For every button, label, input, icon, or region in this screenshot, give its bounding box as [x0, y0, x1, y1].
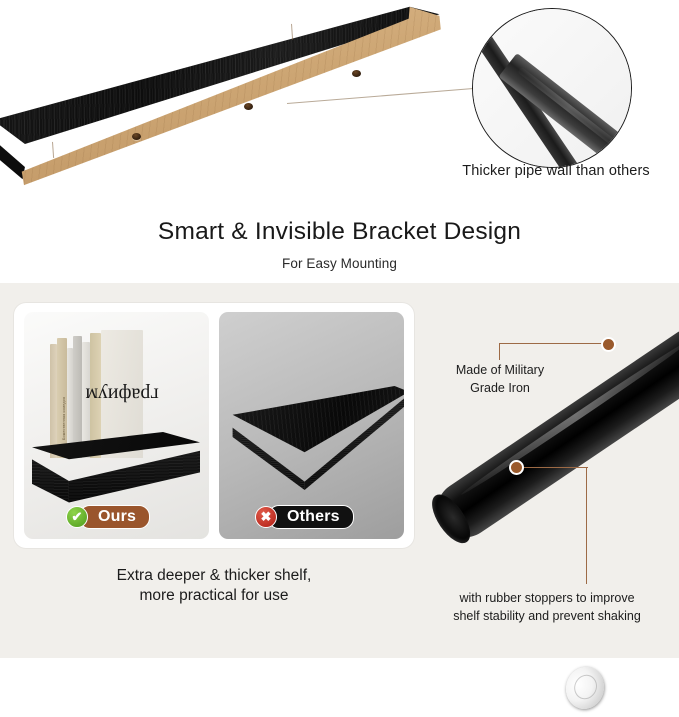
- comparison-caption-line1: Extra deeper & thicker shelf,: [14, 566, 414, 586]
- callout-line-rubber: [524, 467, 588, 468]
- comparison-caption-line2: more practical for use: [14, 586, 414, 606]
- callout-label-rubber-line2: shelf stability and prevent shaking: [418, 607, 676, 625]
- pipe-open-end: [425, 488, 478, 549]
- page-title: Smart & Invisible Bracket Design: [0, 218, 679, 246]
- callout-label-iron-line1: Made of Military: [440, 362, 560, 380]
- page-subtitle: For Easy Mounting: [0, 256, 679, 271]
- callout-label-iron: Made of Military Grade Iron: [440, 362, 560, 398]
- top-section: Thicker pipe wall than others Smart & In…: [0, 0, 679, 283]
- callout-label-rubber-line1: with rubber stoppers to improve: [418, 589, 676, 607]
- bracket-pipe: [426, 317, 679, 548]
- shelf-top-surface: [0, 6, 444, 156]
- mounting-hole: [352, 70, 361, 77]
- pipe-highlight: [459, 336, 679, 497]
- callout-line-iron: [499, 343, 500, 360]
- comparison-panel-ours: Божественная комедия ✔ Ours: [24, 312, 209, 539]
- badge-others: ✖ Others: [255, 505, 354, 529]
- callout-line-rubber: [586, 467, 587, 584]
- cross-mark-icon: ✖: [255, 506, 277, 528]
- comparison-caption: Extra deeper & thicker shelf, more pract…: [14, 566, 414, 607]
- badge-others-label: Others: [268, 505, 354, 529]
- badge-ours-label: Ours: [79, 505, 150, 529]
- shelf-seam: [291, 24, 293, 40]
- shelf-seam: [52, 142, 54, 158]
- callout-dot-iron: [601, 337, 616, 352]
- comparison-panel-others: ✖ Others: [219, 312, 404, 539]
- magnifier-circle: [472, 8, 632, 168]
- check-mark-icon: ✔: [66, 506, 88, 528]
- thin-shelf-illustration: [229, 386, 404, 490]
- rubber-stopper: [559, 659, 611, 717]
- book-spine-label: Божественная комедия: [62, 354, 66, 440]
- callout-label-rubber: with rubber stoppers to improve shelf st…: [418, 589, 676, 625]
- mounting-hole: [244, 103, 253, 110]
- callout-dot-rubber: [509, 460, 524, 475]
- thick-shelf-illustration: [32, 432, 200, 504]
- comparison-card: Божественная комедия ✔ Ours: [14, 303, 414, 548]
- callout-line-iron: [499, 343, 603, 344]
- magnifier-caption: Thicker pipe wall than others: [438, 163, 674, 179]
- product-infographic: Thicker pipe wall than others Smart & In…: [0, 0, 679, 658]
- mounting-hole: [132, 133, 141, 140]
- callout-label-iron-line2: Grade Iron: [440, 380, 560, 398]
- hero-shelf-image: [0, 6, 456, 191]
- badge-ours: ✔ Ours: [66, 505, 150, 529]
